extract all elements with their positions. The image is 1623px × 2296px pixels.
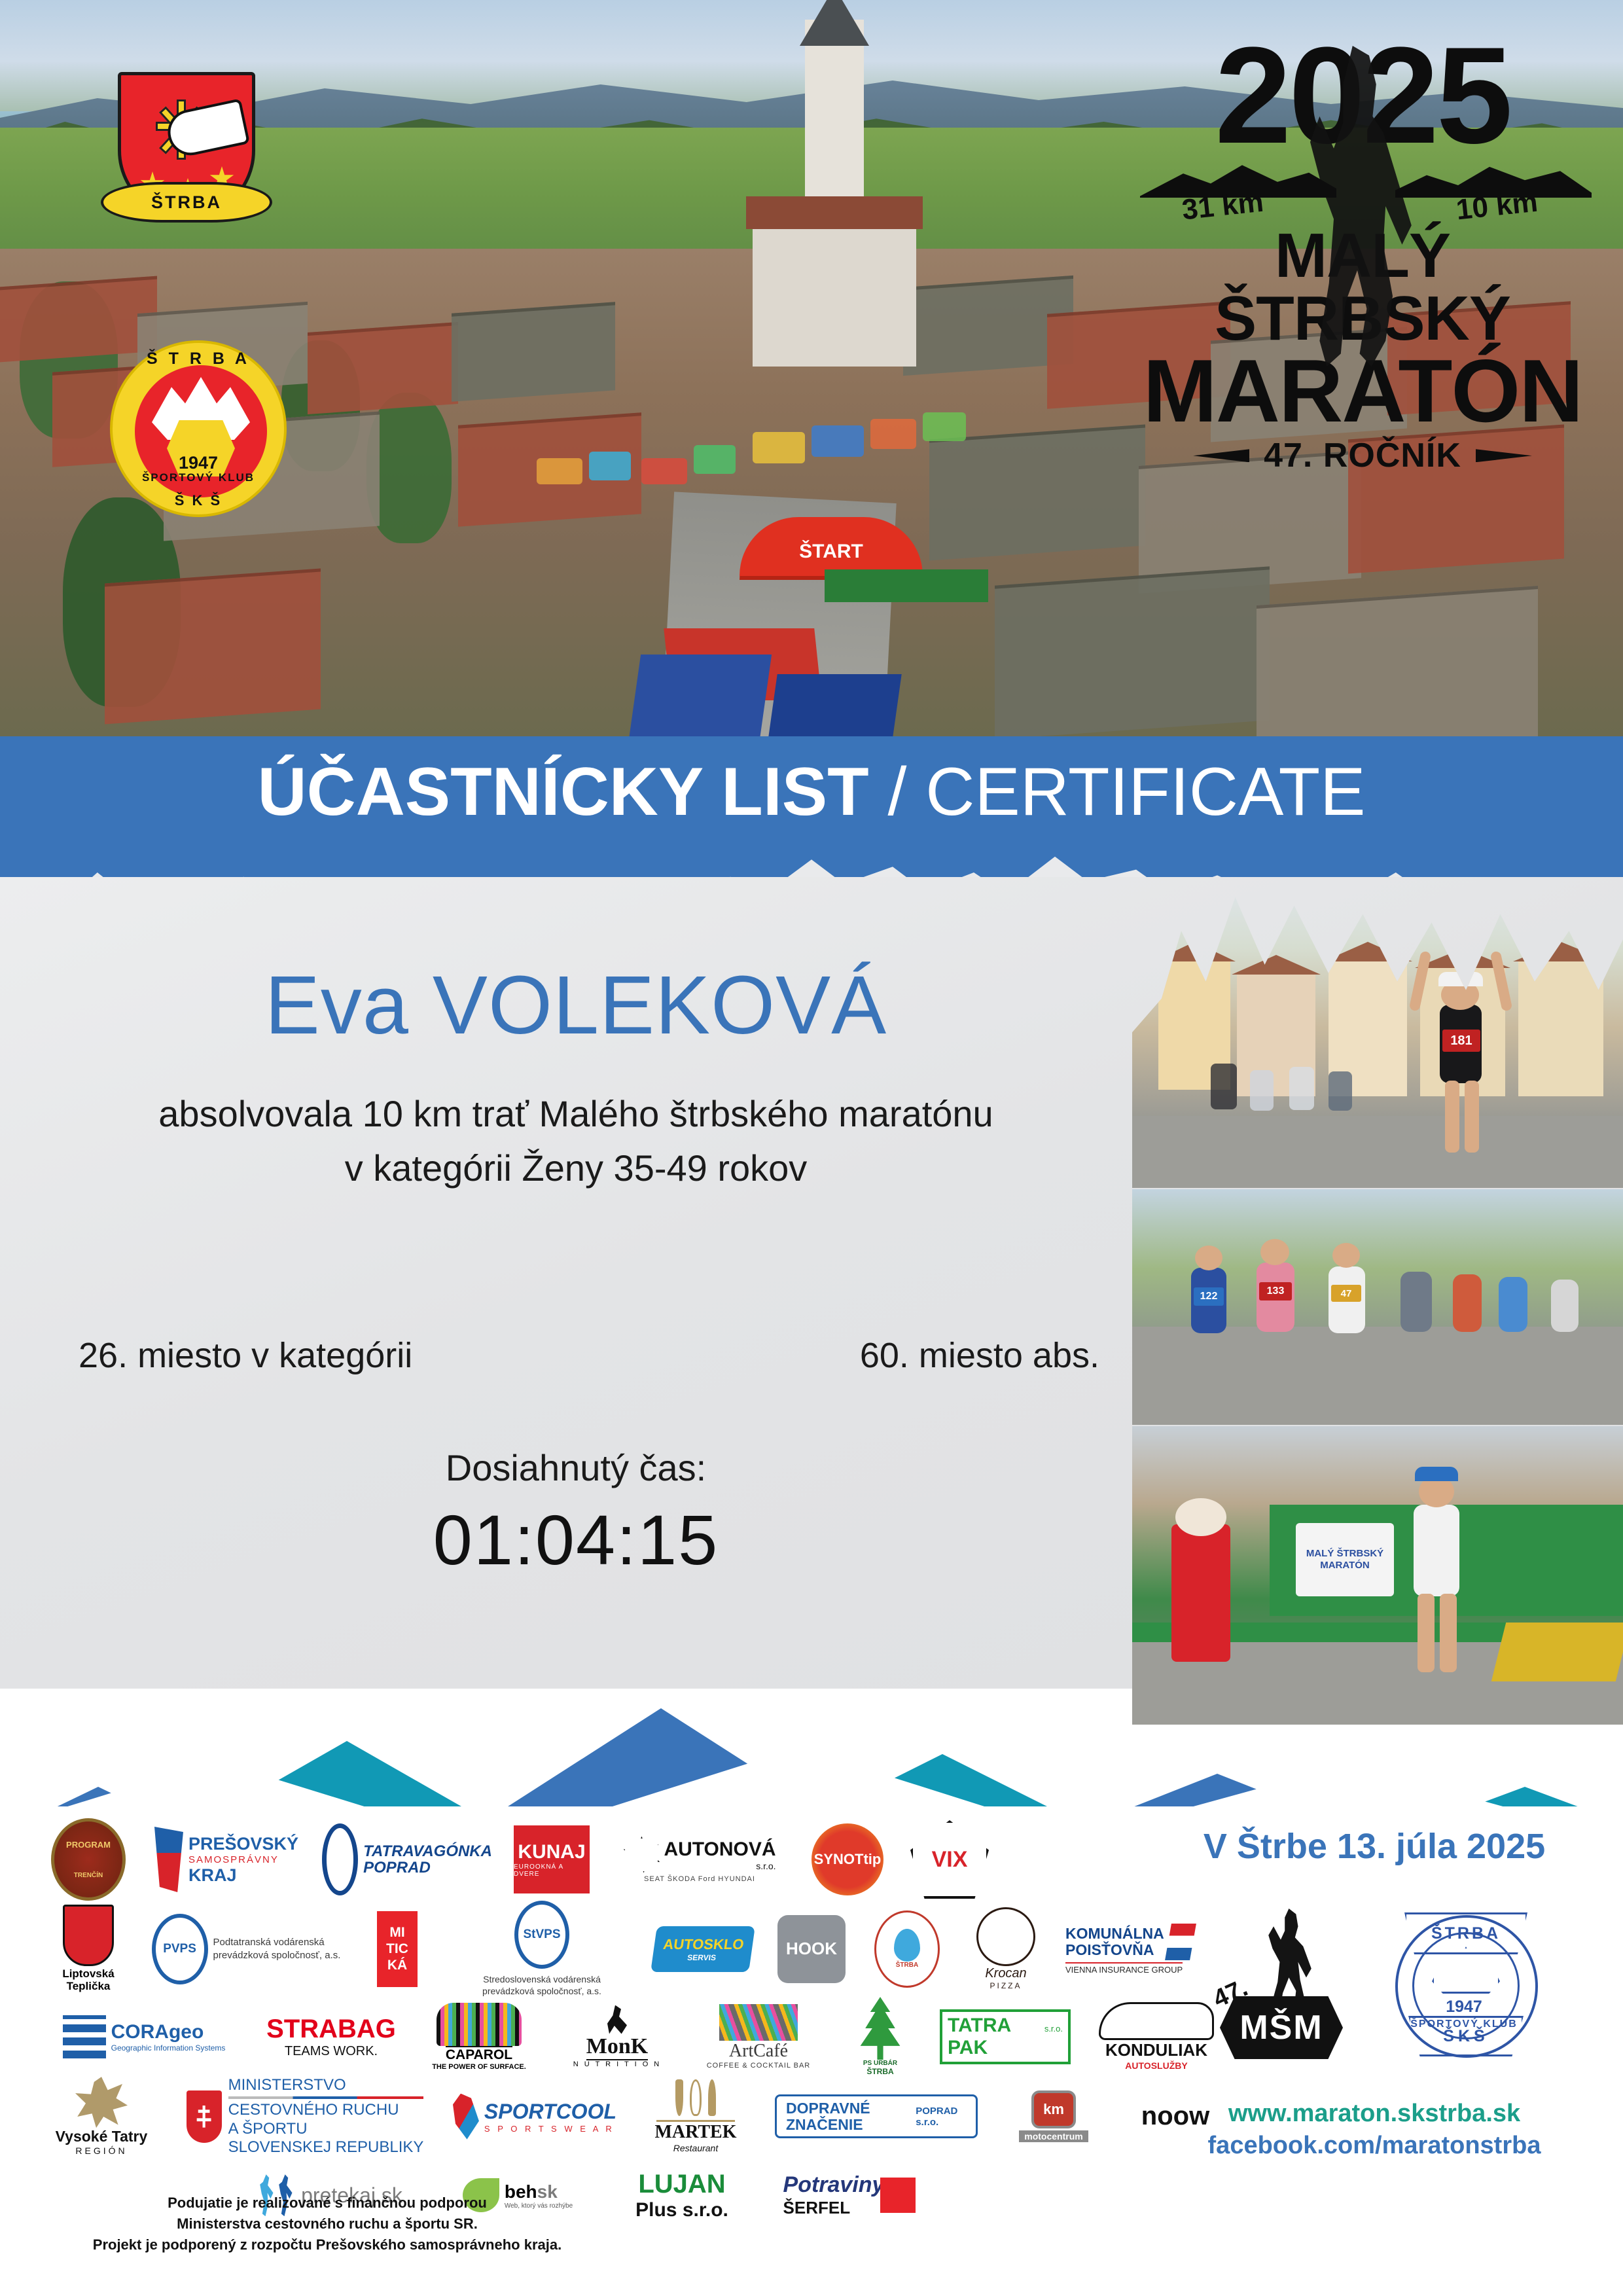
sponsor-sub: ŠTRBA [896, 1962, 918, 1969]
sponsor-name: Potraviny [783, 2172, 885, 2198]
sponsor-sub: TRENČÍN [74, 1872, 103, 1879]
sponsor-sub: ŠERFEL [783, 2198, 885, 2218]
time-label: Dosiahnutý čas: [39, 1446, 1113, 1489]
footer-right-column: V Štrbe 13. júla 2025 47. MŠM ŠTRBA 1947… [1152, 1826, 1597, 2160]
sponsor-vix[interactable]: VIX [907, 1820, 992, 1899]
sks-middle-label: ŠPORTOVÝ KLUB [113, 471, 284, 484]
certificate-text-block: Eva VOLEKOVÁ absolvovala 10 km trať Malé… [39, 962, 1113, 1199]
hero-photo-banner: ŠTART ŠTRBA Š T R B A 1947 ŠPORTOVÝ KLUB [0, 0, 1623, 746]
msm-logo: 47. MŠM [1209, 1909, 1353, 2059]
sponsor-tatravagonka[interactable]: TATRAVAGÓNKA POPRAD [322, 1823, 492, 1895]
sponsor-name: CORAgeo [111, 2021, 226, 2043]
sponsor-name: Krocan [985, 1966, 1026, 1981]
sponsor-logos: PROGRAM TRENČÍN PREŠOVSKÝ SAMOSPRÁVNY KR… [46, 1818, 1132, 2234]
disclaimer-line-1: Podujatie je realizované s finančnou pod… [65, 2193, 589, 2214]
sponsor-sub: N U T R I T I O N [573, 2060, 662, 2068]
church-roof [746, 196, 923, 229]
sponsor-sub: POPRAD [363, 1859, 492, 1876]
sponsor-liptovska-teplicka[interactable]: Liptovská Teplička [46, 1905, 131, 1992]
sponsor-name: PVPS [152, 1914, 208, 1984]
sponsor-name: KUNAJ [518, 1841, 585, 1863]
sponsor-sub: COFFEE & COCKTAIL BAR [707, 2062, 811, 2070]
sponsor-sub: PIZZA [990, 1981, 1022, 1990]
sponsor-ps-urbar-strba[interactable]: PS URBÁR ŠTRBA [838, 1997, 923, 2076]
sponsor-sub: Stredoslovenská vodárenská [482, 1974, 601, 1986]
disclaimer-line-2: Ministerstva cestovného ruchu a športu S… [65, 2214, 589, 2234]
sponsor-sub: ŠTRBA [866, 2067, 893, 2076]
sponsor-name: SPORTCOOL [484, 2100, 616, 2124]
sks-year-label: 1947 [113, 453, 284, 473]
coa-label: ŠTRBA [151, 192, 222, 213]
folk-costume [1171, 1524, 1230, 1662]
website-url[interactable]: www.maraton.skstrba.sk [1152, 2100, 1597, 2128]
sponsor-sportcool[interactable]: SPORTCOOL S P O R T S W E A R [453, 2094, 616, 2140]
sponsor-autosklo[interactable]: AUTOSKLO SERVIS [651, 1926, 755, 1972]
banner-logo: MALÝ ŠTRBSKÝ MARATÓN [1296, 1523, 1394, 1596]
sponsor-sub: EUROOKNÁ A DVERE [514, 1863, 590, 1878]
sponsor-pvps[interactable]: PVPS Podtatranská vodárenská prevádzková… [148, 1914, 344, 1984]
event-branding: 2025 31 km 10 km MALÝ ŠTRBSKÝ MARATÓN 47… [1133, 39, 1592, 622]
sponsor-sub: s.r.o. [1044, 2024, 1063, 2034]
funding-disclaimer: Podujatie je realizované s finančnou pod… [65, 2193, 589, 2255]
church-nave [753, 216, 916, 367]
sponsor-name: StVPS [514, 1901, 569, 1969]
sponsor-name: Liptovská [62, 1967, 114, 1980]
sponsor-dopravne-znacenie[interactable]: DOPRAVNÉ ZNAČENIE POPRAD s.r.o. [775, 2094, 978, 2138]
event-edition: 47. ROČNÍK [1264, 436, 1461, 475]
facebook-url[interactable]: facebook.com/maratonstrba [1152, 2132, 1597, 2160]
sponsor-name: DOPRAVNÉ ZNAČENIE [786, 2100, 870, 2132]
sponsor-sub2: prevádzková spoločnosť, a.s. [482, 1986, 601, 1998]
bib-number: 181 [1442, 1030, 1480, 1052]
sponsor-program-trencin[interactable]: PROGRAM TRENČÍN [46, 1818, 131, 1901]
sponsor-potraviny-serfel[interactable]: Potraviny ŠERFEL [764, 2172, 935, 2218]
sponsor-name: PROGRAM [66, 1840, 111, 1850]
sponsor-sub: POISŤOVŇA [1065, 1942, 1164, 1958]
sponsor-name: AUTONOVÁ [664, 1839, 776, 1861]
bib-number: 133 [1259, 1282, 1292, 1300]
event-edition-row: 47. ROČNÍK [1133, 436, 1592, 475]
sponsor-row: CORAgeo Geographic Information Systems S… [46, 1997, 1132, 2076]
sponsor-sub: s.r.o. [664, 1861, 776, 1871]
stamp-year: 1947 [1389, 1998, 1539, 2017]
sponsor-presovsky-kraj[interactable]: PREŠOVSKÝ SAMOSPRÁVNY KRAJ [148, 1827, 305, 1892]
rooftop [452, 302, 615, 401]
coa-ribbon: ŠTRBA [101, 182, 272, 223]
sponsor-name: AUTOSKLO [662, 1936, 745, 1953]
sponsor-martek[interactable]: MARTEK Restaurant [633, 2079, 758, 2153]
sponsor-name: HOOK [777, 1915, 846, 1983]
title-slovak: ÚČASTNÍCKY LIST [257, 754, 868, 830]
rooftop [308, 322, 458, 414]
sks-top-label: Š T R B A [113, 350, 284, 368]
sponsor-strabag[interactable]: STRABAG TEAMS WORK. [259, 2015, 403, 2059]
msm-abbr: MŠM [1220, 1996, 1343, 2059]
sks-club-emblem: Š T R B A 1947 ŠPORTOVÝ KLUB Š K Š [110, 340, 287, 517]
sponsor-name: MINISTERSTVO [228, 2076, 424, 2094]
sponsor-sub: Plus s.r.o. [635, 2199, 728, 2221]
sponsor-brands: SEAT ŠKODA Ford HYUNDAI [644, 1875, 755, 1883]
sponsor-name: SYNOTtip [811, 1823, 883, 1895]
sks-bottom-label: Š K Š [113, 492, 284, 509]
sponsor-sub2: prevádzková spoločnosť, a.s. [213, 1949, 341, 1962]
sponsor-lujan-plus[interactable]: LUJAN Plus s.r.o. [616, 2170, 747, 2221]
bib-number: 122 [1194, 1287, 1224, 1306]
sponsor-name: km [1031, 2090, 1076, 2128]
description-line-2: v kategórii Ženy 35-49 rokov [39, 1145, 1113, 1193]
crowd-blob [537, 458, 582, 484]
crowd-blob [923, 412, 966, 441]
footer: PROGRAM TRENČÍN PREŠOVSKÝ SAMOSPRÁVNY KR… [0, 1806, 1623, 2296]
crowd-blob [811, 425, 864, 457]
event-title-line2: MARATÓN [1133, 350, 1592, 432]
sponsor-synottip[interactable]: SYNOTtip [805, 1823, 890, 1895]
sponsor-sub: S P O R T S W E A R [484, 2124, 616, 2134]
sponsor-corageo[interactable]: CORAgeo Geographic Information Systems [46, 2015, 242, 2058]
placement-row: 26. miesto v kategórii 60. miesto abs. [79, 1335, 1099, 1376]
sponsor-name: MARTEK [654, 2122, 736, 2143]
sponsor-name: TATRA PAK [948, 2015, 1042, 2059]
sponsor-row: Vysoké Tatry REGIÓN MINISTERSTVO CESTOVN… [46, 2076, 1132, 2157]
rooftop [929, 424, 1145, 560]
start-arch-label: ŠTART [740, 541, 923, 563]
sponsor-name: VIX [910, 1820, 989, 1899]
photo-group-runners: 122 133 47 [1132, 1189, 1623, 1425]
cap-icon [1415, 1467, 1458, 1481]
photo-collage: 181 122 133 47 MALÝ ŠTRBSKÝ MARATÓN [1132, 880, 1623, 1725]
blue-tent [629, 655, 772, 740]
sponsor-name: PS URBÁR [863, 2060, 897, 2067]
sponsor-sub: Restaurant [673, 2143, 718, 2153]
sponsor-sub: TEAMS WORK. [285, 2044, 378, 2059]
sponsor-vysoke-tatry-region[interactable]: Vysoké Tatry REGIÓN [46, 2077, 157, 2156]
sponsor-stvps[interactable]: StVPS Stredoslovenská vodárenská prevádz… [450, 1901, 633, 1997]
rooftop [105, 568, 321, 724]
folk-costume-head [1175, 1498, 1226, 1536]
sponsor-name: Vysoké Tatry [56, 2128, 148, 2145]
title-english: CERTIFICATE [925, 754, 1365, 830]
strba-coat-of-arms: ŠTRBA [118, 72, 255, 239]
certificate-title-band: ÚČASTNÍCKY LIST / CERTIFICATE [0, 736, 1623, 880]
sponsor-autonova[interactable]: AUTONOVÁ s.r.o. SEAT ŠKODA Ford HYUNDAI [611, 1837, 788, 1883]
club-stamp: ŠTRBA 1947 ŠPORTOVÝ KLUB ŠKŠ [1389, 1909, 1539, 2059]
crowd-blob [694, 445, 736, 474]
sponsor-krocan-pizza[interactable]: Krocan PIZZA [963, 1907, 1048, 1990]
disclaimer-line-3: Projekt je podporený z rozpočtu Prešovsk… [65, 2234, 589, 2255]
sponsor-sub: Teplička [67, 1980, 111, 1992]
sponsor-name: STRABAG [266, 2015, 396, 2044]
sponsor-sub: REGIÓN [75, 2145, 127, 2156]
page-title: ÚČASTNÍCKY LIST / CERTIFICATE [0, 753, 1623, 831]
title-separator: / [869, 754, 926, 830]
sponsor-sub: motocentrum [1019, 2130, 1088, 2142]
stamp-bottom-label: ŠKŠ [1408, 2016, 1524, 2056]
participant-name: Eva VOLEKOVÁ [39, 962, 1113, 1049]
sponsor-artcafe[interactable]: ArtCafé COFFEE & COCKTAIL BAR [696, 2004, 821, 2070]
crowd-blob [870, 419, 916, 449]
sponsor-sub: CESTOVNÉHO RUCHU [228, 2101, 424, 2119]
place-absolute: 60. miesto abs. [860, 1335, 1099, 1376]
sponsor-sub: SAMOSPRÁVNY [188, 1854, 298, 1865]
arrow-right-icon [1476, 449, 1532, 462]
crowd-blob [641, 458, 687, 484]
footer-stamps: 47. MŠM ŠTRBA 1947 ŠPORTOVÝ KLUB ŠKŠ [1152, 1909, 1597, 2059]
sponsor-sub: SERVIS [687, 1953, 717, 1962]
sponsor-row: Liptovská Teplička PVPS Podtatranská vod… [46, 1901, 1132, 1997]
sponsor-monk-nutrition[interactable]: MonK N U T R I T I O N [555, 2005, 679, 2068]
sponsor-name: MonK [586, 2034, 648, 2060]
sponsor-name: LUJAN [638, 2170, 725, 2199]
crowd-blob [753, 432, 805, 463]
place-in-category: 26. miesto v kategórii [79, 1335, 412, 1376]
sponsor-name: ArtCafé [729, 2041, 788, 2062]
start-arch: ŠTART [740, 517, 923, 576]
sponsor-row: PROGRAM TRENČÍN PREŠOVSKÝ SAMOSPRÁVNY KR… [46, 1818, 1132, 1901]
sponsor-caparol[interactable]: CAPAROL THE POWER OF SURFACE. [420, 2003, 538, 2071]
sponsor-hook[interactable]: HOOK [772, 1915, 851, 1983]
finish-tape [1491, 1623, 1623, 1681]
blue-tent [767, 674, 901, 746]
sponsor-sub: THE POWER OF SURFACE. [432, 2063, 526, 2071]
sponsor-name: PREŠOVSKÝ [188, 1834, 298, 1854]
sponsor-name: MI TIC KÁ [377, 1911, 418, 1987]
event-distances: 31 km 10 km [1133, 149, 1592, 224]
sponsor-name: TATRAVAGÓNKA [363, 1843, 492, 1859]
finish-time-value: 01:04:15 [39, 1499, 1113, 1581]
sponsor-name: KOMUNÁLNA [1065, 1926, 1164, 1941]
sponsor-kunaj[interactable]: KUNAJ EUROOKNÁ A DVERE [509, 1825, 594, 1893]
finish-mat [825, 569, 988, 602]
sponsor-sub: Podtatranská vodárenská [213, 1936, 341, 1949]
sponsor-name: CAPAROL [446, 2046, 512, 2063]
sponsor-ministerstvo[interactable]: MINISTERSTVO CESTOVNÉHO RUCHU A ŠPORTU S… [174, 2076, 436, 2157]
bib-number: 47 [1331, 1285, 1361, 1302]
sponsor-sub2: KRAJ [188, 1865, 298, 1886]
crowd-blob [589, 452, 631, 480]
certificate-date: V Štrbe 13. júla 2025 [1152, 1826, 1597, 1867]
contact-urls: www.maraton.skstrba.sk facebook.com/mara… [1152, 2100, 1597, 2160]
sponsor-sub: POPRAD s.r.o. [916, 2106, 967, 2128]
sponsor-tatrapak[interactable]: TATRA PAK s.r.o. [940, 2009, 1071, 2064]
arrow-left-icon [1193, 449, 1249, 462]
sponsor-miticka[interactable]: MI TIC KÁ [361, 1911, 433, 1987]
sponsor-pd-strba[interactable]: ŠTRBA [868, 1910, 946, 1988]
sponsor-sub: Geographic Information Systems [111, 2043, 226, 2053]
sponsor-km-motocentrum[interactable]: km motocentrum [995, 2090, 1113, 2142]
description-line-1: absolvovala 10 km trať Malého štrbského … [39, 1090, 1113, 1138]
sponsor-sub2: A ŠPORTU [228, 2120, 424, 2138]
sponsor-sub3: SLOVENSKEJ REPUBLIKY [228, 2138, 424, 2157]
